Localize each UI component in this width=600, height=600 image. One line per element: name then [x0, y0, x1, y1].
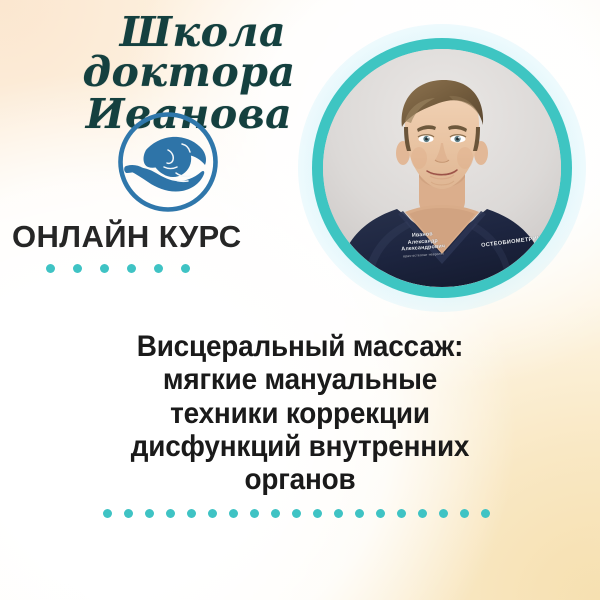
page-title: Висцеральный массаж: мягкие мануальные т… [77, 330, 523, 496]
headline-line: мягкие мануальные [77, 363, 523, 396]
dot [73, 264, 82, 273]
dot [145, 509, 154, 518]
dot [103, 509, 112, 518]
decorative-dot-row-lower [103, 509, 490, 518]
hands-holding-face-emblem-icon [116, 110, 220, 214]
scrub-name-label: Иванов Александр Александрович врач-осте… [390, 230, 456, 260]
poster-root: Школа доктора Иванова [0, 0, 600, 600]
dot [46, 264, 55, 273]
decorative-dot-row-upper [46, 264, 190, 273]
dot [292, 509, 301, 518]
dot [460, 509, 469, 518]
dot [313, 509, 322, 518]
dot [208, 509, 217, 518]
dot [250, 509, 259, 518]
dot [418, 509, 427, 518]
dot [229, 509, 238, 518]
dot [127, 264, 136, 273]
dot [100, 264, 109, 273]
doctor-portrait: Иванов Александр Александрович врач-осте… [312, 38, 572, 298]
dot [376, 509, 385, 518]
headline-line: дисфункций внутренних [77, 430, 523, 463]
dot [481, 509, 490, 518]
online-course-label: ОНЛАЙН КУРС [12, 219, 242, 255]
dot [397, 509, 406, 518]
headline-line: Висцеральный массаж: [77, 330, 523, 363]
headline-line: техники коррекции [77, 397, 523, 430]
dot [181, 264, 190, 273]
dot [439, 509, 448, 518]
headline-line: органов [77, 463, 523, 496]
dot [124, 509, 133, 518]
dot [334, 509, 343, 518]
dot [166, 509, 175, 518]
dot [271, 509, 280, 518]
dot [355, 509, 364, 518]
dot [154, 264, 163, 273]
dot [187, 509, 196, 518]
portrait-photo: Иванов Александр Александрович врач-осте… [323, 49, 561, 287]
